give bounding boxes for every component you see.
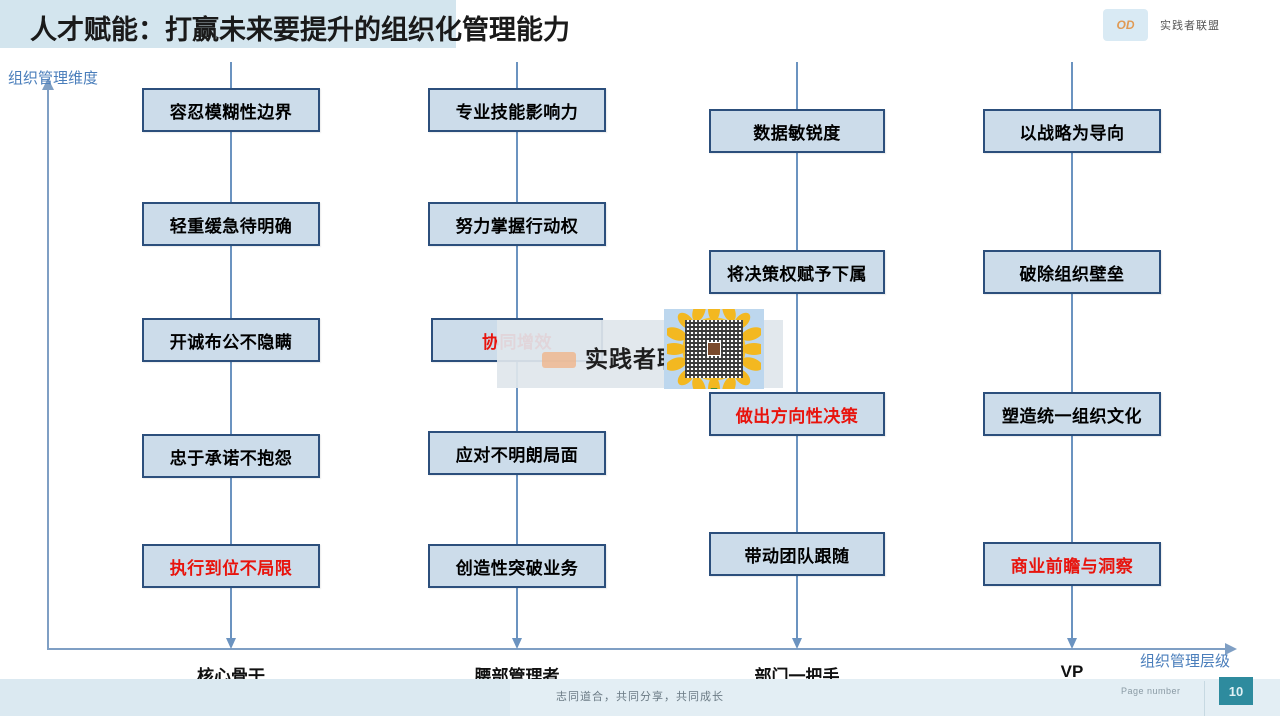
x-axis-line (47, 648, 1227, 650)
footer-motto: 志同道合，共同分享，共同成长 (0, 688, 1280, 704)
brand-logo: OD 实践者联盟 (1103, 8, 1268, 42)
capability-node[interactable]: 破除组织壁垒 (983, 250, 1161, 294)
capability-node[interactable]: 以战略为导向 (983, 109, 1161, 153)
bottom-strip (0, 716, 1280, 720)
capability-node[interactable]: 专业技能影响力 (428, 88, 606, 132)
capability-node[interactable]: 带动团队跟随 (709, 532, 885, 576)
capability-node[interactable]: 忠于承诺不抱怨 (142, 434, 320, 478)
y-axis-line (47, 88, 49, 650)
capability-node[interactable]: 执行到位不局限 (142, 544, 320, 588)
brand-name: 实践者联盟 (1160, 17, 1220, 33)
slide-canvas: 人才赋能：打赢未来要提升的组织化管理能力 OD 实践者联盟 组织管理维度 组织管… (0, 0, 1280, 720)
capability-node[interactable]: 创造性突破业务 (428, 544, 606, 588)
capability-node[interactable]: 做出方向性决策 (709, 392, 885, 436)
qr-code-image (664, 309, 764, 389)
page-number-label: Page number (1121, 686, 1181, 696)
capability-node[interactable]: 努力掌握行动权 (428, 202, 606, 246)
capability-node[interactable]: 应对不明朗局面 (428, 431, 606, 475)
qr-avatar (707, 342, 721, 356)
capability-node[interactable]: 开诚布公不隐瞒 (142, 318, 320, 362)
capability-node[interactable]: 数据敏锐度 (709, 109, 885, 153)
x-axis-label: 组织管理层级 (1140, 650, 1230, 671)
od-logo-icon: OD (1103, 9, 1148, 41)
capability-node[interactable]: 容忍模糊性边界 (142, 88, 320, 132)
page-title: 人才赋能：打赢未来要提升的组织化管理能力 (30, 8, 570, 47)
column-arrow-icon (226, 638, 236, 649)
capability-node[interactable]: 塑造统一组织文化 (983, 392, 1161, 436)
watermark-od-icon (542, 352, 576, 368)
capability-node[interactable]: 商业前瞻与洞察 (983, 542, 1161, 586)
footer-divider (1204, 681, 1205, 718)
capability-node[interactable]: 轻重缓急待明确 (142, 202, 320, 246)
page-number-badge: 10 (1219, 677, 1253, 705)
y-axis-label: 组织管理维度 (8, 67, 98, 88)
column-arrow-icon (512, 638, 522, 649)
column-arrow-icon (1067, 638, 1077, 649)
capability-node[interactable]: 将决策权赋予下属 (709, 250, 885, 294)
column-arrow-icon (792, 638, 802, 649)
